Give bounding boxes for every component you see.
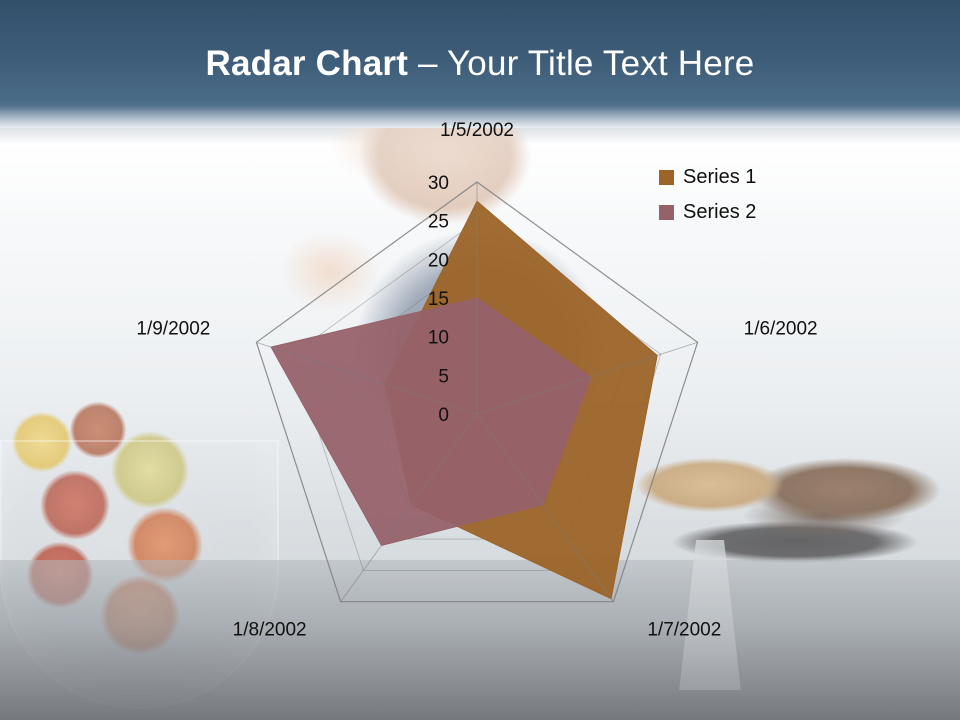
svg-text:10: 10 <box>428 328 449 349</box>
svg-text:0: 0 <box>438 405 449 426</box>
svg-text:30: 30 <box>428 173 449 194</box>
title-light: Your Title Text Here <box>447 44 755 83</box>
svg-text:1/5/2002: 1/5/2002 <box>440 120 514 141</box>
legend-item-series-2[interactable]: Series 2 <box>659 195 756 230</box>
svg-text:1/6/2002: 1/6/2002 <box>744 318 818 339</box>
svg-text:20: 20 <box>428 250 449 271</box>
title-separator: – <box>418 44 438 83</box>
svg-text:1/9/2002: 1/9/2002 <box>136 318 210 339</box>
title-strong: Radar Chart <box>206 44 409 83</box>
slide: Radar Chart – Your Title Text Here 05101… <box>0 0 960 720</box>
svg-text:15: 15 <box>428 289 449 310</box>
svg-text:1/8/2002: 1/8/2002 <box>233 620 307 641</box>
svg-text:25: 25 <box>428 212 449 233</box>
legend-swatch-series-2 <box>659 205 674 220</box>
chart-legend: Series 1 Series 2 <box>659 160 756 230</box>
svg-text:5: 5 <box>438 366 449 387</box>
legend-label-series-2: Series 2 <box>683 201 756 224</box>
legend-swatch-series-1 <box>659 170 674 185</box>
legend-label-series-1: Series 1 <box>683 166 756 189</box>
page-title: Radar Chart – Your Title Text Here <box>206 44 755 84</box>
legend-item-series-1[interactable]: Series 1 <box>659 160 756 195</box>
svg-text:1/7/2002: 1/7/2002 <box>647 620 721 641</box>
radar-chart[interactable]: 051015202530 1/5/20021/6/20021/7/20021/8… <box>0 0 960 720</box>
